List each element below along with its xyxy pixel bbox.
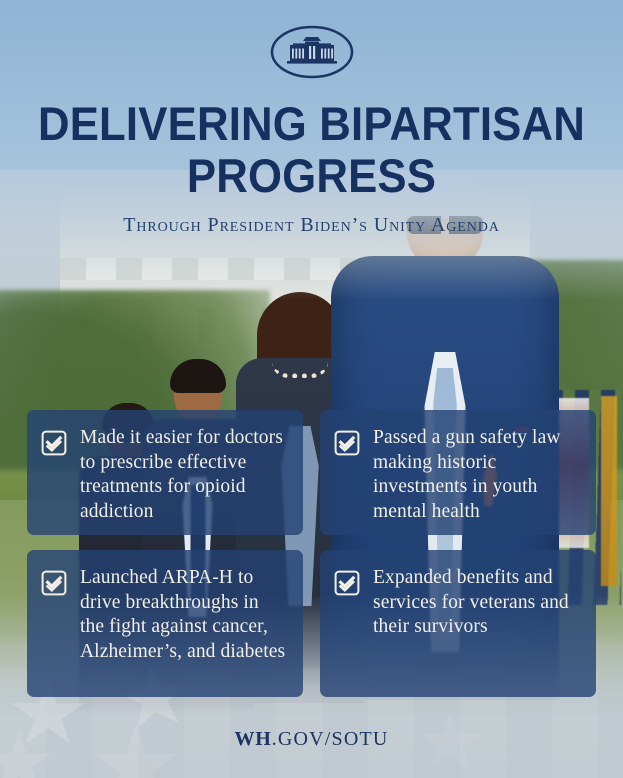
page-subtitle: Through President Biden’s Unity Agenda	[0, 214, 623, 237]
card-row-one: Made it easier for doctors to prescribe …	[27, 410, 596, 535]
accomplishment-card-veterans: Expanded benefits and services for veter…	[320, 550, 596, 697]
accomplishment-cards: Made it easier for doctors to prescribe …	[27, 410, 596, 697]
accomplishment-card-text: Launched ARPA-H to drive breakthroughs i…	[80, 566, 287, 664]
accomplishment-card-gun-safety: Passed a gun safety law making historic …	[320, 410, 596, 535]
checkbox-checked-icon	[41, 570, 67, 596]
accomplishment-card-text: Expanded benefits and services for veter…	[373, 566, 580, 640]
photo-person-necklace	[272, 362, 328, 378]
page-title: DELIVERING BIPARTISAN PROGRESS	[22, 98, 601, 202]
accomplishment-card-arpa-h: Launched ARPA-H to drive breakthroughs i…	[27, 550, 303, 697]
card-row-two: Launched ARPA-H to drive breakthroughs i…	[27, 550, 596, 697]
checkbox-checked-icon	[334, 570, 360, 596]
footer-url[interactable]: WH.GOV/SOTU	[0, 728, 623, 751]
page-title-line-2: PROGRESS	[187, 149, 436, 202]
accomplishment-card-opioid: Made it easier for doctors to prescribe …	[27, 410, 303, 535]
accomplishment-card-text: Made it easier for doctors to prescribe …	[80, 426, 287, 524]
page-title-line-1: DELIVERING BIPARTISAN	[38, 97, 585, 150]
photo-person-hair	[170, 359, 226, 393]
footer-brand: WH	[234, 728, 271, 750]
white-house-seal-icon	[269, 24, 355, 80]
footer-url-rest: .GOV/SOTU	[272, 728, 389, 750]
photo-flag-fringe	[601, 396, 617, 586]
accomplishment-card-text: Passed a gun safety law making historic …	[373, 426, 580, 524]
checkbox-checked-icon	[41, 430, 67, 456]
infographic-poster: DELIVERING BIPARTISAN PROGRESS Through P…	[0, 0, 623, 778]
checkbox-checked-icon	[334, 430, 360, 456]
